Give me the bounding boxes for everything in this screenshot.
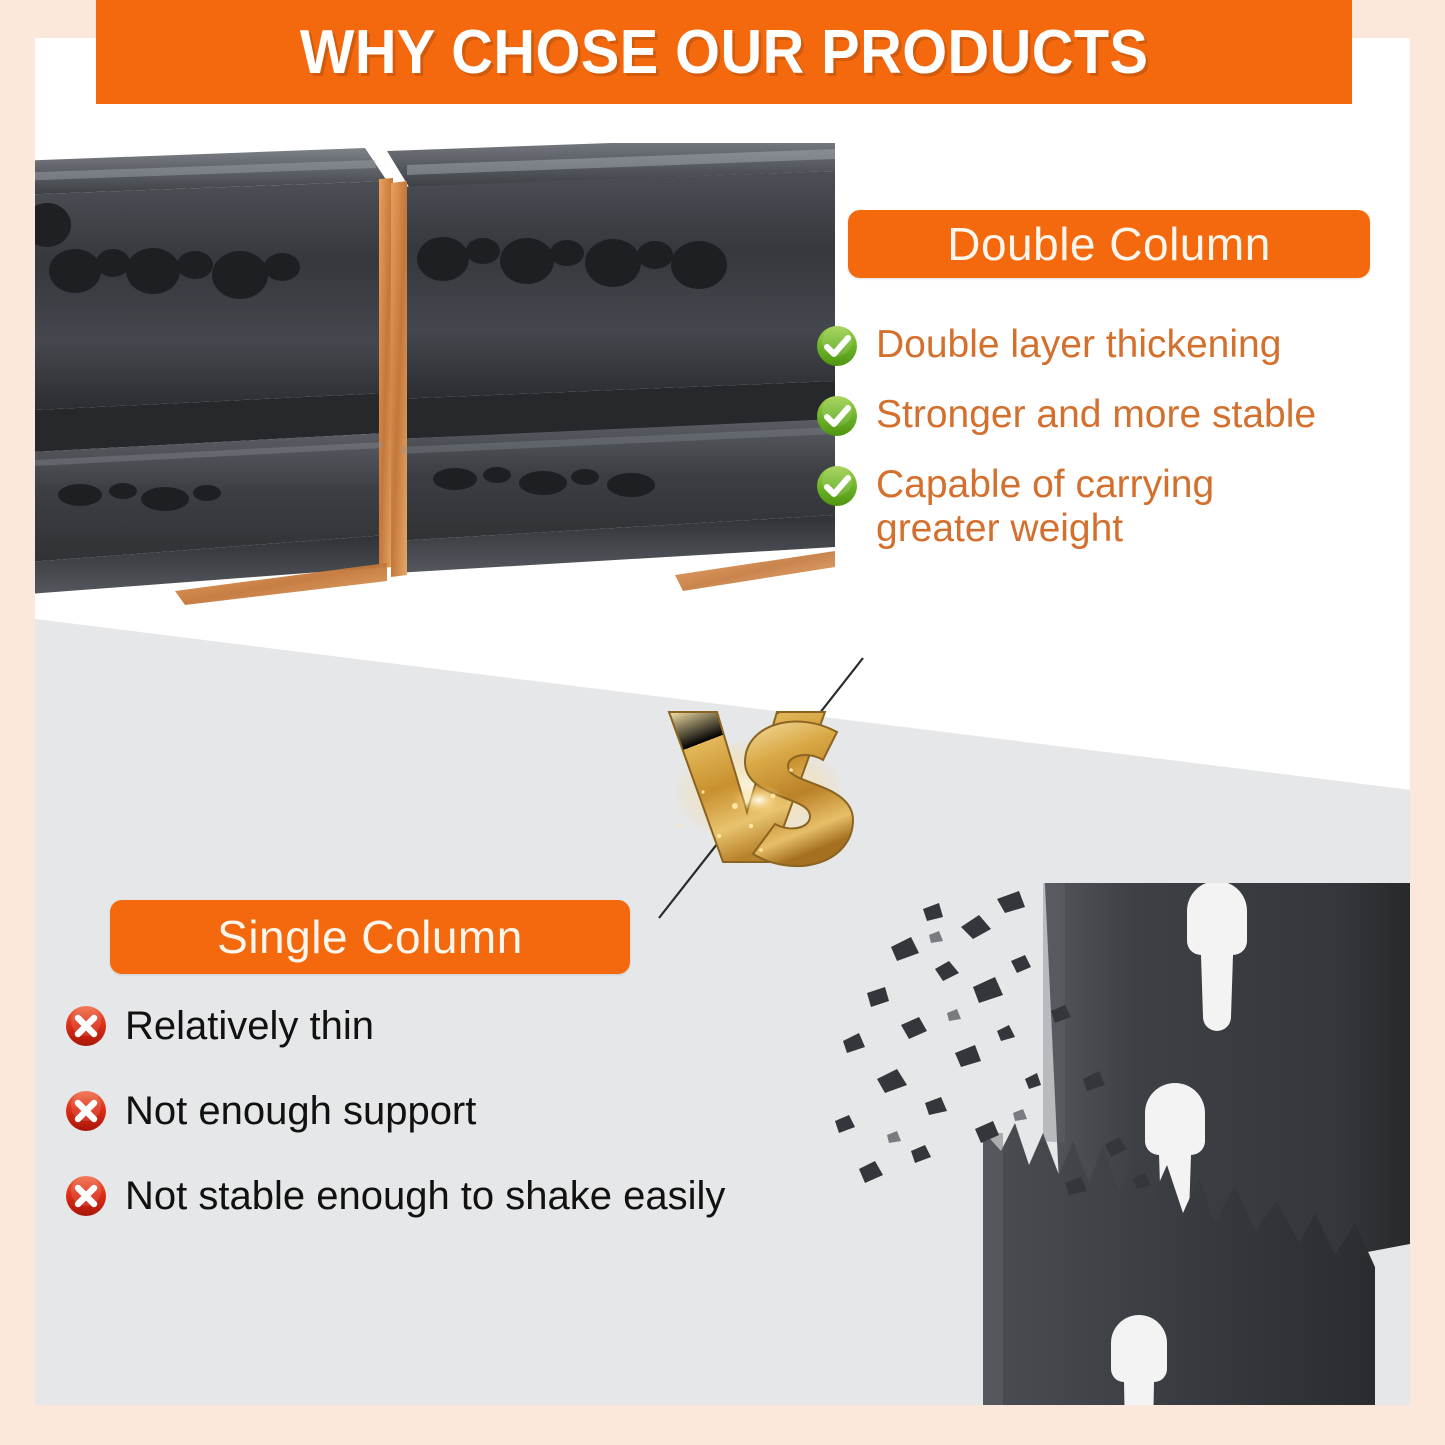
- double-column-benefits-list: Double layer thickening Stronger and mor…: [816, 323, 1376, 551]
- single-column-badge[interactable]: Single Column: [110, 900, 630, 974]
- list-item-label: Capable of carrying greater weight: [876, 463, 1296, 551]
- header-banner: WHY CHOSE OUR PRODUCTS: [96, 0, 1352, 104]
- single-column-drawbacks-list: Relatively thin Not enough support: [65, 1003, 865, 1258]
- list-item-label: Relatively thin: [125, 1003, 374, 1049]
- list-item: Capable of carrying greater weight: [816, 463, 1376, 551]
- double-column-badge-label: Double Column: [947, 217, 1271, 271]
- page-title: WHY CHOSE OUR PRODUCTS: [300, 17, 1149, 88]
- versus-graphic: [631, 650, 931, 920]
- x-circle-icon: [65, 1175, 107, 1217]
- list-item: Relatively thin: [65, 1003, 865, 1049]
- x-circle-icon: [65, 1005, 107, 1047]
- content-panel: Double Column: [35, 38, 1410, 1405]
- check-circle-icon: [816, 465, 858, 507]
- x-circle-icon: [65, 1090, 107, 1132]
- infographic-frame: Double Column: [0, 0, 1445, 1445]
- double-column-badge[interactable]: Double Column: [848, 210, 1370, 278]
- double-column-rails-image: [35, 143, 835, 613]
- list-item: Not enough support: [65, 1088, 865, 1134]
- check-circle-icon: [816, 395, 858, 437]
- list-item: Stronger and more stable: [816, 393, 1376, 437]
- list-item-label: Not stable enough to shake easily: [125, 1173, 725, 1219]
- list-item: Not stable enough to shake easily: [65, 1173, 865, 1219]
- check-circle-icon: [816, 325, 858, 367]
- list-item-label: Stronger and more stable: [876, 393, 1316, 437]
- broken-column-image: [815, 883, 1410, 1405]
- list-item-label: Not enough support: [125, 1088, 476, 1134]
- list-item-label: Double layer thickening: [876, 323, 1281, 367]
- list-item: Double layer thickening: [816, 323, 1376, 367]
- single-column-badge-label: Single Column: [217, 910, 523, 964]
